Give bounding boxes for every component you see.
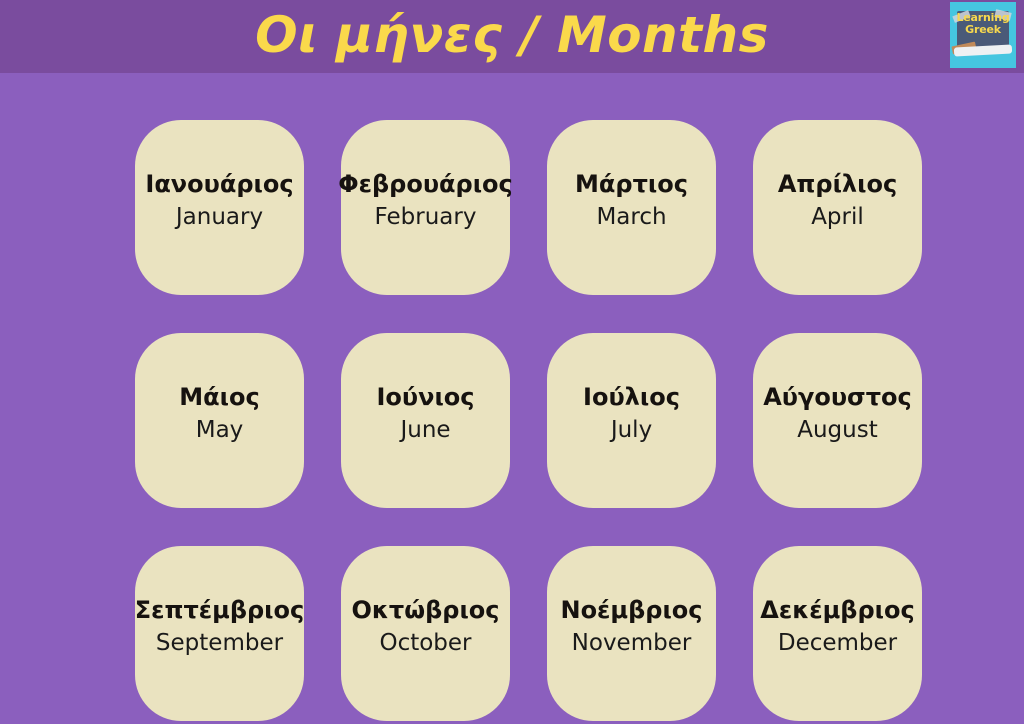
month-english: October	[329, 627, 522, 660]
month-card: Οκτώβριος October	[341, 546, 510, 721]
month-card: Ιανουάριος January	[135, 120, 304, 295]
learning-greek-logo: Learning Greek	[950, 2, 1016, 68]
page-title: Οι μήνες / Months	[0, 0, 1024, 73]
month-english: May	[123, 414, 316, 447]
month-card-content: Μάιος May	[123, 381, 316, 447]
month-card-content: Οκτώβριος October	[329, 594, 522, 660]
month-card: Νοέμβριος November	[547, 546, 716, 721]
month-card-content: Δεκέμβριος December	[741, 594, 934, 660]
month-greek: Ιανουάριος	[123, 168, 316, 201]
month-greek: Ιούνιος	[329, 381, 522, 414]
months-grid: Ιανουάριος January Φεβρουάριος February …	[135, 120, 924, 721]
month-english: June	[329, 414, 522, 447]
month-english: September	[123, 627, 316, 660]
month-greek: Μάιος	[123, 381, 316, 414]
month-english: March	[535, 201, 728, 234]
month-card: Μάρτιος March	[547, 120, 716, 295]
month-english: April	[741, 201, 934, 234]
month-greek: Αύγουστος	[741, 381, 934, 414]
month-card-content: Αύγουστος August	[741, 381, 934, 447]
months-vocabulary-poster: Οι μήνες / Months Learning Greek Ιανουάρ…	[0, 0, 1024, 724]
month-card-content: Ιούλιος July	[535, 381, 728, 447]
month-card: Αύγουστος August	[753, 333, 922, 508]
month-card: Απρίλιος April	[753, 120, 922, 295]
month-greek: Μάρτιος	[535, 168, 728, 201]
month-english: August	[741, 414, 934, 447]
month-card-content: Νοέμβριος November	[535, 594, 728, 660]
logo-line-2: Greek	[965, 23, 1001, 36]
month-greek: Νοέμβριος	[535, 594, 728, 627]
month-card-content: Μάρτιος March	[535, 168, 728, 234]
month-card-content: Σεπτέμβριος September	[123, 594, 316, 660]
logo-text: Learning Greek	[950, 12, 1016, 36]
month-card: Δεκέμβριος December	[753, 546, 922, 721]
month-card: Μάιος May	[135, 333, 304, 508]
month-english: January	[123, 201, 316, 234]
month-greek: Οκτώβριος	[329, 594, 522, 627]
month-card: Φεβρουάριος February	[341, 120, 510, 295]
month-greek: Απρίλιος	[741, 168, 934, 201]
month-greek: Σεπτέμβριος	[123, 594, 316, 627]
month-card-content: Ιανουάριος January	[123, 168, 316, 234]
month-card: Σεπτέμβριος September	[135, 546, 304, 721]
month-card: Ιούνιος June	[341, 333, 510, 508]
month-english: July	[535, 414, 728, 447]
month-greek: Φεβρουάριος	[329, 168, 522, 201]
month-english: November	[535, 627, 728, 660]
month-greek: Ιούλιος	[535, 381, 728, 414]
month-card-content: Ιούνιος June	[329, 381, 522, 447]
paper-icon	[954, 44, 1012, 56]
month-card: Ιούλιος July	[547, 333, 716, 508]
month-card-content: Φεβρουάριος February	[329, 168, 522, 234]
header-banner: Οι μήνες / Months Learning Greek	[0, 0, 1024, 73]
month-english: February	[329, 201, 522, 234]
month-english: December	[741, 627, 934, 660]
month-greek: Δεκέμβριος	[741, 594, 934, 627]
month-card-content: Απρίλιος April	[741, 168, 934, 234]
